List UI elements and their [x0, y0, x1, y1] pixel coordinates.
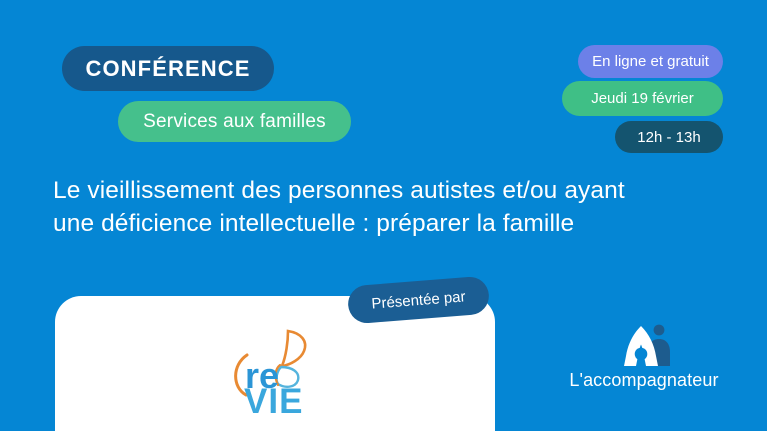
badge-time: 12h - 13h — [615, 121, 723, 153]
poster-title: Le vieillissement des personnes autistes… — [53, 174, 713, 240]
a-counter-icon — [635, 348, 648, 361]
poster-title-line-2: une déficience intellectuelle : préparer… — [53, 207, 713, 240]
badge-category: Services aux familles — [118, 101, 351, 142]
accompagnateur-wordmark: L'accompagnateur — [560, 370, 728, 391]
badge-conference: CONFÉRENCE — [62, 46, 274, 91]
badge-online-free: En ligne et gratuit — [578, 45, 723, 78]
revie-text-vie: VIE — [244, 382, 303, 413]
a-person-icon — [560, 322, 728, 368]
person-head-icon — [654, 325, 665, 336]
revie-logo: re VIE — [228, 325, 323, 413]
poster-title-line-1: Le vieillissement des personnes autistes… — [53, 174, 713, 207]
badge-date: Jeudi 19 février — [562, 81, 723, 116]
accompagnateur-logo: L'accompagnateur — [560, 322, 728, 397]
butterfly-upper-wing-icon — [282, 331, 305, 366]
revie-logo-svg: re VIE — [228, 325, 323, 413]
conference-poster: CONFÉRENCE Services aux familles En lign… — [0, 0, 767, 431]
